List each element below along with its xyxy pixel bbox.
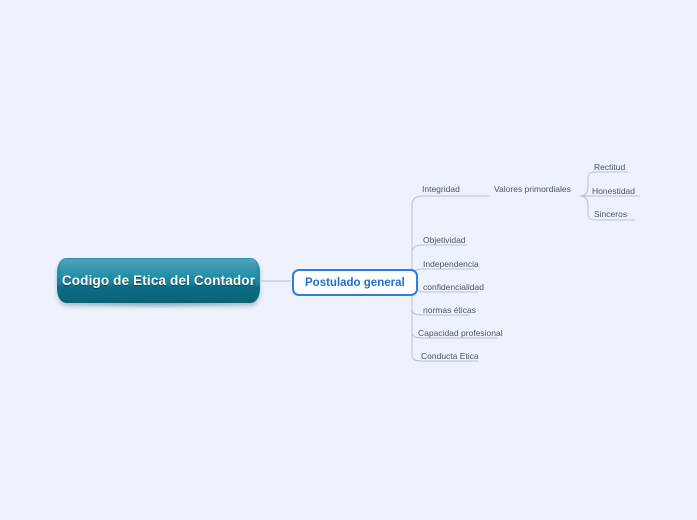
leaf-integridad[interactable]: Integridad [422, 185, 460, 194]
root-node[interactable]: Codigo de Etica del Contador [57, 258, 260, 303]
leaf-sinceros[interactable]: Sinceros [594, 210, 627, 219]
branch-node-label: Postulado general [305, 277, 405, 289]
mindmap-canvas: Codigo de Etica del Contador Postulado g… [0, 0, 697, 520]
leaf-normas-eticas[interactable]: normas éticas [423, 306, 476, 315]
leaf-capacidad-profesional[interactable]: Capacidad profesional [418, 329, 503, 338]
leaf-objetividad[interactable]: Objetividad [423, 236, 466, 245]
leaf-honestidad[interactable]: Honestidad [592, 187, 635, 196]
leaf-confidencialidad[interactable]: confidencialidad [423, 283, 484, 292]
leaf-valores-primordiales[interactable]: Valores primordiales [494, 185, 571, 194]
leaf-independencia[interactable]: Independencia [423, 260, 479, 269]
leaf-conducta-etica[interactable]: Conducta Etica [421, 352, 479, 361]
branch-node-postulado-general[interactable]: Postulado general [292, 269, 418, 296]
leaf-rectitud[interactable]: Rectitud [594, 163, 625, 172]
root-node-label: Codigo de Etica del Contador [62, 273, 255, 288]
